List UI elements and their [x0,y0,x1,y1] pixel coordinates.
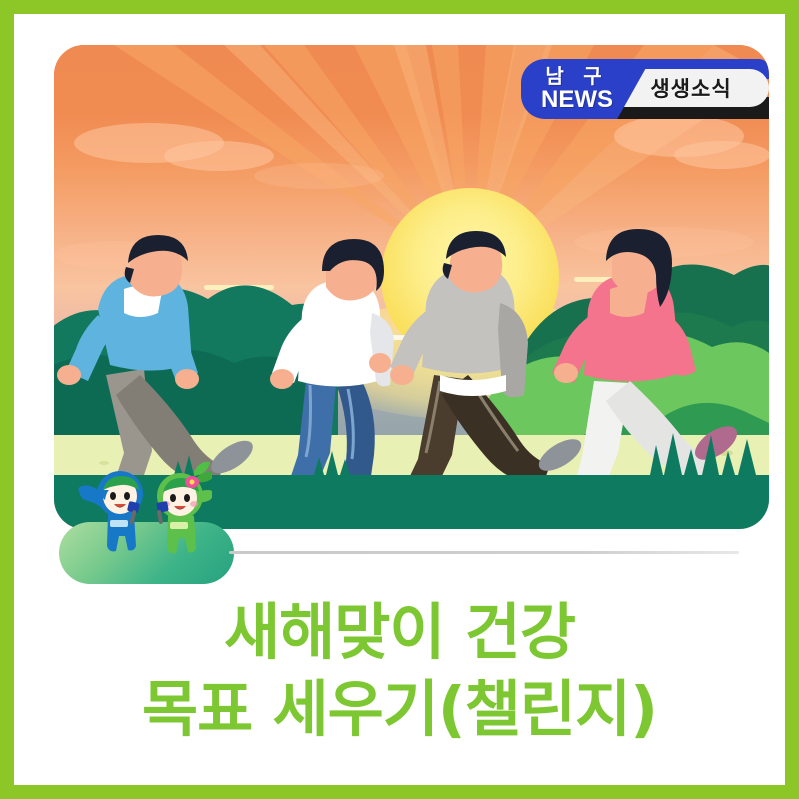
badge-news-label: NEWS [541,88,613,112]
title-block: 새해맞이 건강 목표 세우기(챌린지) [14,594,785,749]
badge-section-label: 생생소식 [636,73,731,103]
badge-region-label: 남 구 [545,67,608,87]
mascot-blue [78,471,143,551]
mascot-pair [72,454,212,559]
title-line-2: 목표 세우기(챌린지) [14,671,785,748]
news-card: 생생소식 남 구 NEWS [0,0,799,799]
mascot-green [156,462,212,554]
section-divider [229,551,739,554]
title-line-1: 새해맞이 건강 [14,594,785,671]
news-badge: 생생소식 남 구 NEWS [507,59,769,121]
